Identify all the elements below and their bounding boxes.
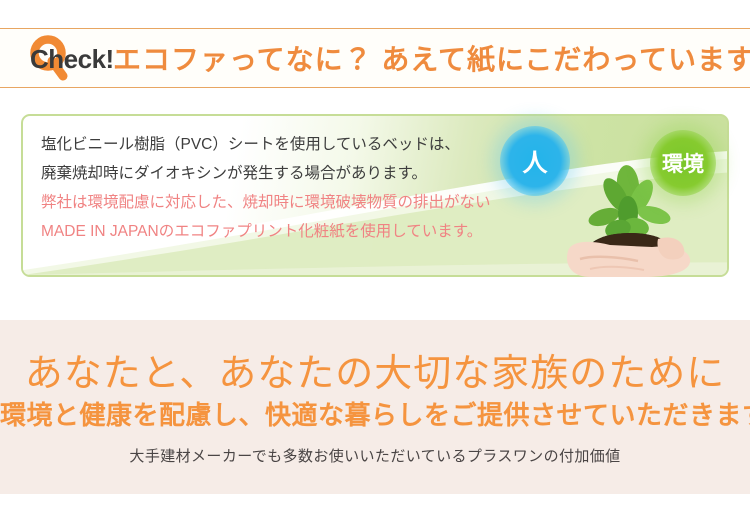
bubble-person-label: 人	[522, 143, 547, 179]
bubble-environment: 環境	[650, 130, 716, 196]
panel-line-2: 廃棄焼却時にダイオキシンが発生する場合があります。	[41, 159, 491, 188]
check-label: Check!	[30, 46, 114, 72]
panel-line-4: MADE IN JAPANのエコファプリント化粧紙を使用しています。	[41, 217, 491, 246]
panel-body-text: 塩化ビニール樹脂（PVC）シートを使用しているベッドは、 廃棄焼却時にダイオキシ…	[41, 130, 491, 246]
closing-headline: あなたと、あなたの大切な家族のために	[0, 342, 750, 397]
closing-caption: 大手建材メーカーでも多数お使いいただいているプラスワンの付加価値	[0, 445, 750, 466]
check-badge: Check!	[30, 29, 114, 89]
closing-subheadline: 環境と健康を配慮し、快適な暮らしをご提供させていただきます！	[0, 395, 750, 432]
closing-section: あなたと、あなたの大切な家族のために 環境と健康を配慮し、快適な暮らしをご提供さ…	[0, 320, 750, 494]
bubble-person: 人	[500, 126, 570, 196]
infographic-page: Check! エコファってなに？ あえて紙にこだわっています！ 塩化ビニール樹脂…	[0, 0, 750, 506]
page-title: エコファってなに？ あえて紙にこだわっています！	[113, 28, 750, 88]
panel-line-3: 弊社は環境配慮に対応した、焼却時に環境破壊物質の排出がない	[41, 188, 491, 217]
bubble-environment-label: 環境	[662, 148, 704, 178]
panel-line-1: 塩化ビニール樹脂（PVC）シートを使用しているベッドは、	[41, 130, 491, 159]
